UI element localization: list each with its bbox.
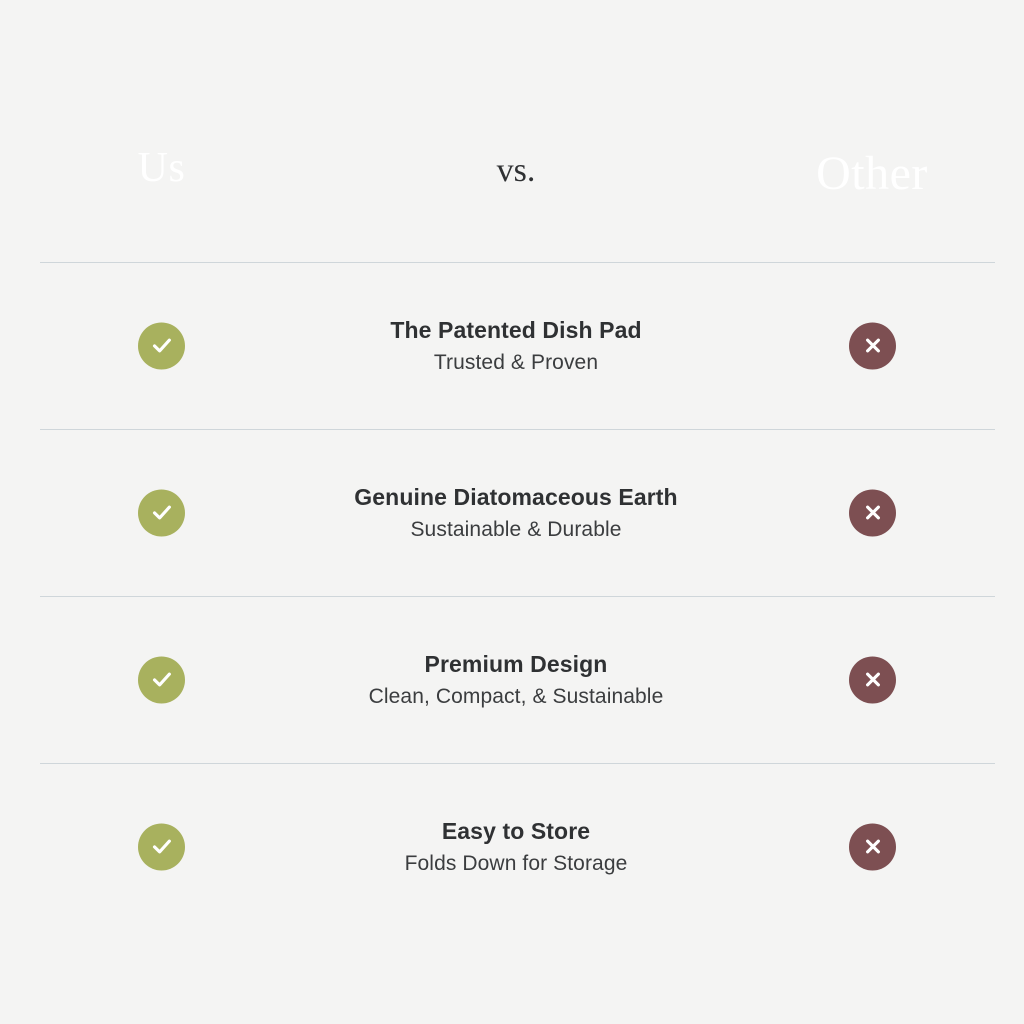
row-title: Genuine Diatomaceous Earth bbox=[354, 484, 677, 511]
row-content: The Patented Dish Pad Trusted & Proven bbox=[283, 262, 749, 429]
close-icon bbox=[849, 823, 896, 870]
row-subtitle: Trusted & Proven bbox=[434, 351, 598, 375]
row-content: Premium Design Clean, Compact, & Sustain… bbox=[283, 596, 749, 763]
table-row: Easy to Store Folds Down for Storage bbox=[0, 763, 1024, 930]
close-icon bbox=[849, 489, 896, 536]
column-separator-vs: vs. bbox=[283, 152, 749, 190]
check-icon bbox=[138, 823, 185, 870]
row-content: Easy to Store Folds Down for Storage bbox=[283, 763, 749, 930]
table-row: Genuine Diatomaceous Earth Sustainable &… bbox=[0, 429, 1024, 596]
row-title: The Patented Dish Pad bbox=[390, 317, 641, 344]
close-icon bbox=[849, 656, 896, 703]
column-header-us: Us bbox=[40, 144, 283, 192]
check-icon bbox=[138, 656, 185, 703]
table-row: Premium Design Clean, Compact, & Sustain… bbox=[0, 596, 1024, 763]
check-icon bbox=[138, 322, 185, 369]
row-content: Genuine Diatomaceous Earth Sustainable &… bbox=[283, 429, 749, 596]
column-header-other: Other bbox=[749, 146, 995, 201]
row-title: Easy to Store bbox=[442, 818, 590, 845]
row-subtitle: Clean, Compact, & Sustainable bbox=[369, 685, 664, 709]
comparison-table: Us vs. Other The Patented Dish Pad Trust… bbox=[0, 0, 1024, 1024]
check-icon bbox=[138, 489, 185, 536]
table-row: The Patented Dish Pad Trusted & Proven bbox=[0, 262, 1024, 429]
row-subtitle: Folds Down for Storage bbox=[405, 852, 628, 876]
row-subtitle: Sustainable & Durable bbox=[410, 518, 621, 542]
close-icon bbox=[849, 322, 896, 369]
row-title: Premium Design bbox=[425, 651, 608, 678]
